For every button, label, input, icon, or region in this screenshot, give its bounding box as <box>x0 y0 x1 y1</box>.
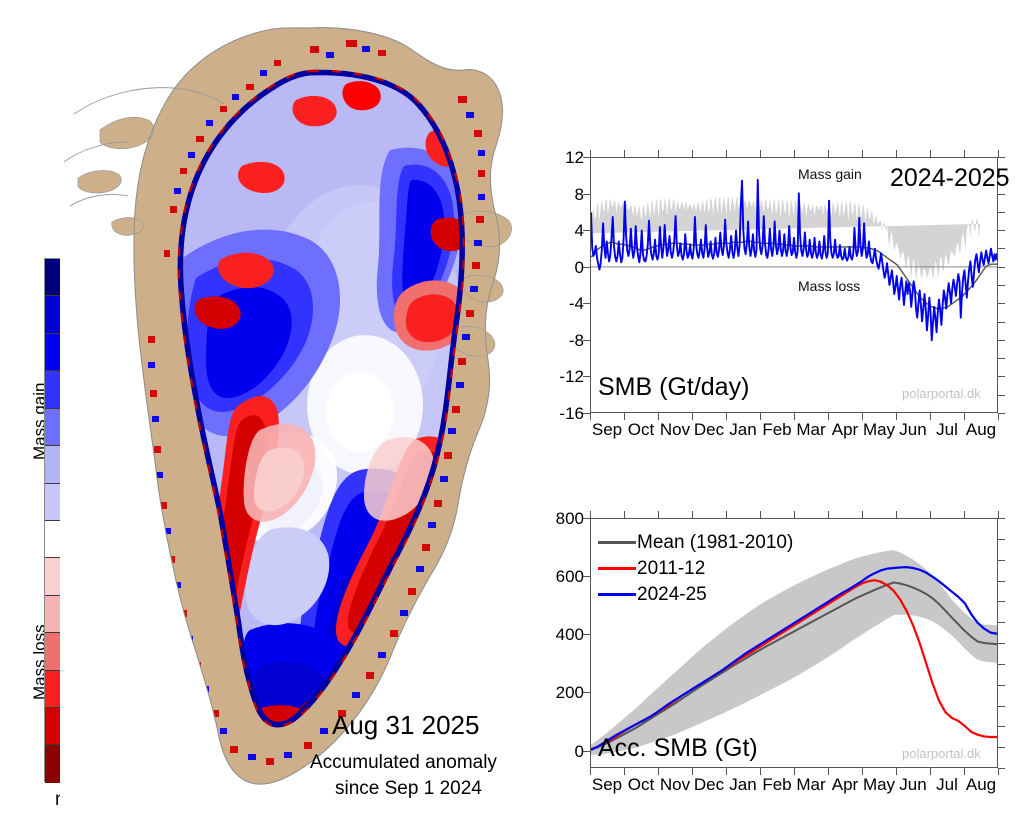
x-tick-mark <box>862 413 863 420</box>
x-tick-mark <box>998 150 999 157</box>
x-tick-mark <box>896 511 897 518</box>
map-subtitle-line1: Accumulated anomaly <box>310 752 497 774</box>
month-tick-label: Mar <box>794 776 828 793</box>
month-tick-label: Feb <box>760 776 794 793</box>
x-tick-mark <box>760 511 761 518</box>
y-tick-mark <box>583 634 591 635</box>
x-tick-mark <box>896 150 897 157</box>
y-minor-tick-mark <box>998 157 1005 158</box>
y-minor-tick-mark <box>998 395 1005 396</box>
x-tick-mark <box>930 511 931 518</box>
month-tick-label: Jan <box>726 776 760 793</box>
month-tick-label: Apr <box>828 776 862 793</box>
y-minor-tick-mark <box>998 358 1005 359</box>
x-tick-mark <box>964 413 965 420</box>
y-tick-label: 4 <box>542 222 584 239</box>
x-tick-mark <box>760 413 761 420</box>
smb-daily-chart: 12840-4-8-12-16 SepOctNovDecJanFebMarApr… <box>540 140 1024 450</box>
map-subtitle-line2: since Sep 1 2024 <box>335 778 482 800</box>
month-tick-label: Nov <box>658 776 692 793</box>
legend-label: 2024-25 <box>637 584 707 606</box>
x-tick-mark <box>794 768 795 775</box>
month-tick-label: Jul <box>930 776 964 793</box>
y-minor-tick-mark <box>998 768 1005 769</box>
y-minor-tick-mark <box>998 747 1005 748</box>
legend-label: 2011-12 <box>637 558 705 580</box>
y-minor-tick-mark <box>998 601 1005 602</box>
x-tick-mark <box>794 413 795 420</box>
y-minor-tick-mark <box>998 376 1005 377</box>
legend-color-swatch <box>598 541 636 544</box>
x-tick-mark <box>828 768 829 775</box>
y-minor-tick-mark <box>998 539 1005 540</box>
x-tick-mark <box>930 150 931 157</box>
y-tick-label: -16 <box>542 405 584 422</box>
smb-daily-watermark: polarportal.dk <box>902 386 981 401</box>
x-tick-mark <box>658 511 659 518</box>
x-tick-mark <box>794 511 795 518</box>
x-tick-mark <box>726 511 727 518</box>
month-tick-label: May <box>862 421 896 438</box>
smb-daily-axis-title: SMB (Gt/day) <box>598 373 749 402</box>
y-minor-tick-mark <box>998 230 1005 231</box>
y-tick-label: 400 <box>542 626 584 643</box>
acc-smb-series-canvas <box>591 519 997 767</box>
x-tick-mark <box>896 413 897 420</box>
x-tick-mark <box>862 150 863 157</box>
x-tick-mark <box>794 150 795 157</box>
month-tick-label: Oct <box>624 776 658 793</box>
y-tick-mark <box>583 692 591 693</box>
y-tick-label: -12 <box>542 368 584 385</box>
x-tick-mark <box>930 413 931 420</box>
x-tick-mark <box>726 413 727 420</box>
x-tick-mark <box>726 768 727 775</box>
x-tick-mark <box>590 150 591 157</box>
x-tick-mark <box>964 511 965 518</box>
x-tick-mark <box>590 413 591 420</box>
x-tick-mark <box>624 413 625 420</box>
y-tick-label: -8 <box>542 332 584 349</box>
y-tick-mark <box>583 157 591 158</box>
map-date-label: Aug 31 2025 <box>332 710 479 741</box>
y-minor-tick-mark <box>998 322 1005 323</box>
month-tick-label: Jun <box>896 776 930 793</box>
x-tick-mark <box>590 511 591 518</box>
x-tick-mark <box>964 150 965 157</box>
y-tick-mark <box>583 230 591 231</box>
y-tick-mark <box>583 303 591 304</box>
acc-smb-axis-title: Acc. SMB (Gt) <box>598 734 758 763</box>
month-tick-label: Sep <box>590 776 624 793</box>
month-tick-label: Nov <box>658 421 692 438</box>
y-minor-tick-mark <box>998 267 1005 268</box>
x-tick-mark <box>998 413 999 420</box>
greenland-map-panel: Aug 31 2025 Accumulated anomaly since Se… <box>60 10 530 822</box>
y-minor-tick-mark <box>998 643 1005 644</box>
month-tick-label: Jun <box>896 421 930 438</box>
y-minor-tick-mark <box>998 413 1005 414</box>
y-minor-tick-mark <box>998 622 1005 623</box>
y-tick-mark <box>583 576 591 577</box>
y-tick-label: -4 <box>542 295 584 312</box>
acc-smb-chart: 8006004002000 SepOctNovDecJanFebMarAprMa… <box>540 500 1024 820</box>
legend-label: Mean (1981-2010) <box>637 532 793 554</box>
y-minor-tick-mark <box>998 248 1005 249</box>
x-tick-mark <box>624 150 625 157</box>
x-tick-mark <box>828 150 829 157</box>
x-tick-mark <box>828 413 829 420</box>
x-tick-mark <box>726 150 727 157</box>
month-tick-label: Sep <box>590 421 624 438</box>
y-tick-label: 800 <box>542 510 584 527</box>
month-tick-label: May <box>862 776 896 793</box>
month-tick-label: Dec <box>692 421 726 438</box>
month-tick-label: Feb <box>760 421 794 438</box>
y-minor-tick-mark <box>998 706 1005 707</box>
y-tick-mark <box>583 518 591 519</box>
y-tick-label: 0 <box>542 259 584 276</box>
y-minor-tick-mark <box>998 194 1005 195</box>
y-minor-tick-mark <box>998 285 1005 286</box>
y-minor-tick-mark <box>998 664 1005 665</box>
month-tick-label: Aug <box>964 776 998 793</box>
x-tick-mark <box>658 413 659 420</box>
mass-loss-annotation: Mass loss <box>798 278 860 294</box>
y-tick-label: 12 <box>542 149 584 166</box>
x-tick-mark <box>692 413 693 420</box>
smb-daily-title: 2024-2025 <box>890 164 1010 193</box>
y-minor-tick-mark <box>998 212 1005 213</box>
month-tick-label: Dec <box>692 776 726 793</box>
y-tick-label: 200 <box>542 684 584 701</box>
x-tick-mark <box>658 150 659 157</box>
y-minor-tick-mark <box>998 726 1005 727</box>
x-tick-mark <box>998 768 999 775</box>
x-tick-mark <box>624 768 625 775</box>
acc-smb-plot-area <box>590 518 998 768</box>
y-minor-tick-mark <box>998 303 1005 304</box>
x-tick-mark <box>862 768 863 775</box>
y-minor-tick-mark <box>998 685 1005 686</box>
y-tick-label: 0 <box>542 743 584 760</box>
x-tick-mark <box>692 768 693 775</box>
month-tick-label: Jan <box>726 421 760 438</box>
x-tick-mark <box>930 768 931 775</box>
x-tick-mark <box>760 768 761 775</box>
x-tick-mark <box>624 511 625 518</box>
month-tick-label: Apr <box>828 421 862 438</box>
y-minor-tick-mark <box>998 340 1005 341</box>
x-tick-mark <box>828 511 829 518</box>
month-tick-label: Mar <box>794 421 828 438</box>
month-tick-label: Jul <box>930 421 964 438</box>
x-tick-mark <box>896 768 897 775</box>
x-tick-mark <box>964 768 965 775</box>
x-tick-mark <box>590 768 591 775</box>
x-tick-mark <box>998 511 999 518</box>
y-tick-label: 8 <box>542 186 584 203</box>
y-tick-mark <box>583 376 591 377</box>
y-minor-tick-mark <box>998 581 1005 582</box>
y-tick-label: 600 <box>542 568 584 585</box>
y-tick-mark <box>583 267 591 268</box>
mass-gain-annotation: Mass gain <box>798 166 862 182</box>
y-tick-mark <box>583 194 591 195</box>
greenland-smb-anomaly-map <box>60 10 530 822</box>
x-tick-mark <box>692 150 693 157</box>
x-tick-mark <box>658 768 659 775</box>
y-minor-tick-mark <box>998 560 1005 561</box>
y-tick-mark <box>583 340 591 341</box>
y-minor-tick-mark <box>998 518 1005 519</box>
legend-color-swatch <box>598 567 636 570</box>
x-tick-mark <box>862 511 863 518</box>
month-tick-label: Aug <box>964 421 998 438</box>
y-tick-mark <box>583 751 591 752</box>
x-tick-mark <box>760 150 761 157</box>
acc-smb-watermark: polarportal.dk <box>902 746 981 761</box>
legend-color-swatch <box>598 593 636 596</box>
x-tick-mark <box>692 511 693 518</box>
month-tick-label: Oct <box>624 421 658 438</box>
